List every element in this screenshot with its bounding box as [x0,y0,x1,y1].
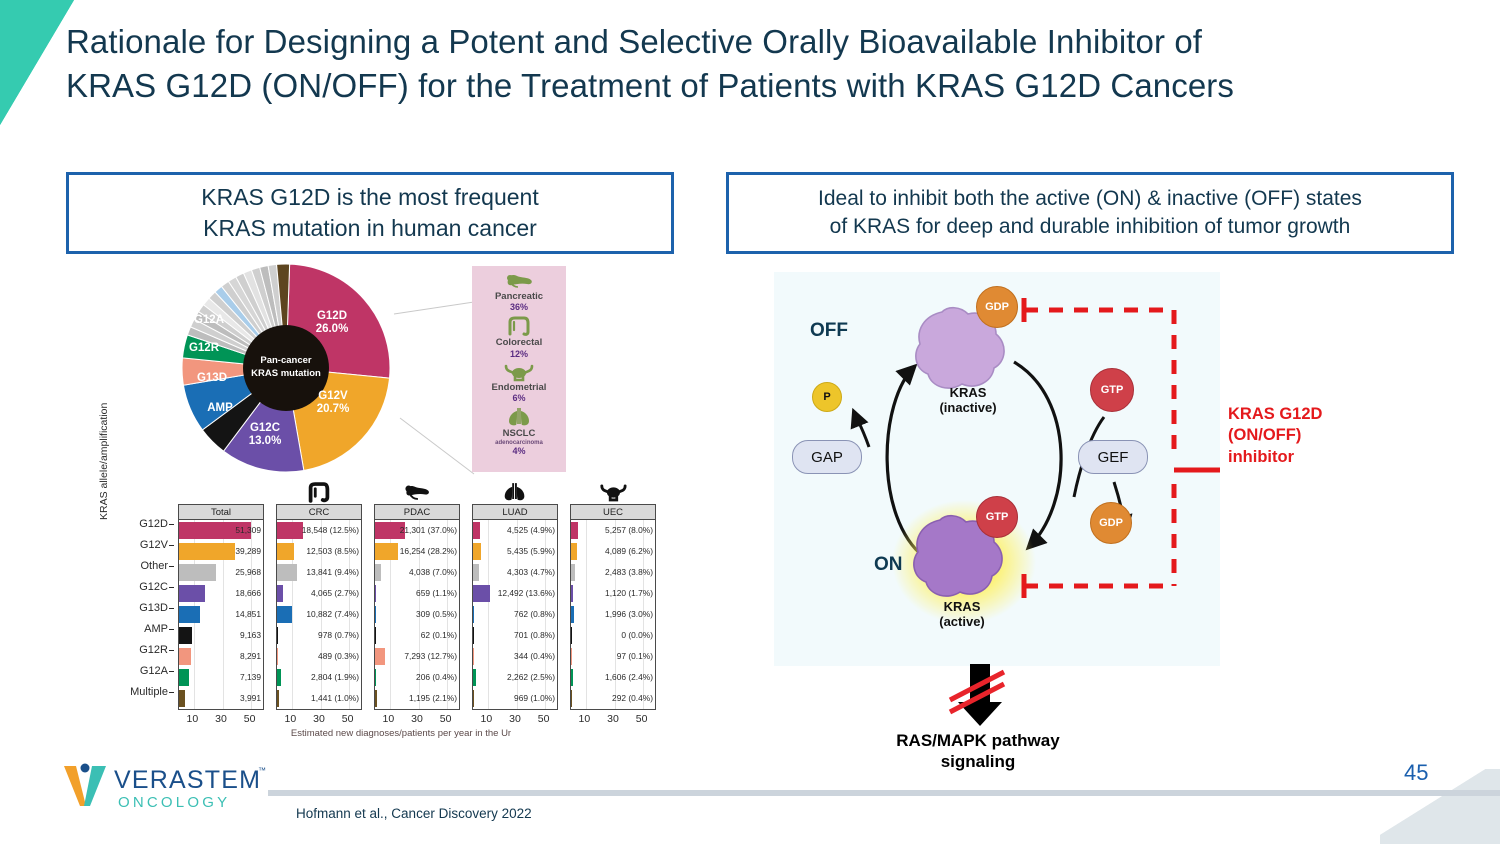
bar-value-label: 1,120 (1.7%) [605,583,653,604]
bar-segment [277,585,283,602]
inset-item-endometrial: Endometrial 6% [472,362,566,403]
bar-column-header: Total [179,505,263,520]
table-row: 0 (0.0%) [571,625,655,646]
bar-value-label: 1,996 (3.0%) [605,604,653,625]
bar-segment [473,690,474,707]
pie-label-amp: AMP [200,402,240,415]
bar-segment [473,522,480,539]
corner-triangle-teal [0,0,74,125]
bar-panel: CRC18,548 (12.5%)12,503 (8.5%)13,841 (9.… [276,504,362,710]
bar-value-label: 39,289 [235,541,261,562]
bar-segment [277,690,279,707]
gdp-node-top: GDP [976,286,1018,328]
table-row: 4,303 (4.7%) [473,562,557,583]
table-row: 8,291 [179,646,263,667]
bar-segment [179,627,192,644]
bar-value-label: 13,841 (9.4%) [306,562,359,583]
logo-trademark: ™ [258,766,266,775]
inset-item-pancreatic: Pancreatic 36% [472,271,566,312]
inhibitor-line-1: KRAS G12D [1228,404,1388,425]
table-row: 4,525 (4.9%) [473,520,557,541]
colon-icon [505,315,533,337]
table-row: 969 (1.0%) [473,688,557,709]
bar-segment [375,648,385,665]
bar-value-label: 969 (1.0%) [514,688,555,709]
bar-column-total: Total51,30939,28925,96818,66614,8519,163… [178,478,264,725]
table-row: 3,991 [179,688,263,709]
table-row: 7,139 [179,667,263,688]
inset-pct-colorectal: 12% [472,349,566,359]
x-tick: 30 [215,713,227,725]
kras-inactive-line-1: KRAS [920,386,1016,401]
bar-column-crc: CRC18,548 (12.5%)12,503 (8.5%)13,841 (9.… [276,478,362,725]
bar-column-header: LUAD [473,505,557,520]
uterus-icon [570,478,656,504]
bar-panel: PDAC21,301 (37.0%)16,254 (28.2%)4,038 (7… [374,504,460,710]
bar-value-label: 4,525 (4.9%) [507,520,555,541]
table-row: 2,804 (1.9%) [277,667,361,688]
bar-segment [179,690,185,707]
bar-segment [571,627,572,644]
bar-segment [473,669,476,686]
bar-segment [179,606,200,623]
bar-segment [179,585,205,602]
page-number: 45 [1404,760,1428,786]
x-tick: 30 [313,713,325,725]
table-row: 4,089 (6.2%) [571,541,655,562]
bar-value-label: 12,503 (8.5%) [306,541,359,562]
table-row: 344 (0.4%) [473,646,557,667]
bar-segment [375,543,398,560]
bar-value-label: 25,968 [235,562,261,583]
bar-value-label: 2,804 (1.9%) [311,667,359,688]
callout-right: Ideal to inhibit both the active (ON) & … [726,172,1454,254]
bar-segment [375,606,376,623]
table-row: 14,851 [179,604,263,625]
callout-right-line-1: Ideal to inhibit both the active (ON) & … [818,185,1362,213]
bar-value-label: 4,065 (2.7%) [311,583,359,604]
x-tick: 30 [607,713,619,725]
inset-name-colorectal: Colorectal [472,338,566,348]
bar-value-label: 701 (0.8%) [514,625,555,646]
pancreas-icon [504,271,534,291]
callout-left: KRAS G12D is the most frequent KRAS muta… [66,172,674,254]
table-row: 2,483 (3.8%) [571,562,655,583]
pie-label-g12c: G12C 13.0% [242,422,288,448]
x-tick: 50 [538,713,550,725]
bar-segment [179,543,235,560]
bar-value-label: 62 (0.1%) [421,625,457,646]
table-row: 21,301 (37.0%) [375,520,459,541]
no-icon [178,478,264,504]
x-tick: 30 [411,713,423,725]
bar-segment [375,627,376,644]
callout-left-line-1: KRAS G12D is the most frequent [201,182,539,213]
bar-row-label-amp: AMP [116,619,174,640]
uterus-icon [503,362,535,382]
bar-chart-table: KRAS allele/amplification G12DG12VOtherG… [104,478,624,746]
table-row: 1,441 (1.0%) [277,688,361,709]
bar-segment [473,627,474,644]
bar-chart-columns: Total51,30939,28925,96818,66614,8519,163… [178,478,656,725]
bar-value-label: 5,257 (8.0%) [605,520,653,541]
inset-name-nsclc: NSCLC [472,429,566,439]
table-row: 18,548 (12.5%) [277,520,361,541]
bar-chart-x-axis-label: Estimated new diagnoses/patients per yea… [178,728,624,739]
bar-chart-row-labels: G12DG12VOtherG12CG13DAMPG12RG12AMultiple [116,514,174,703]
inhibitor-label: KRAS G12D (ON/OFF) inhibitor [1228,404,1388,468]
bar-x-ticks: 103050 [178,710,264,725]
bar-value-label: 2,483 (3.8%) [605,562,653,583]
table-row: 9,163 [179,625,263,646]
inset-name-endometrial: Endometrial [472,383,566,393]
bar-column-header: UEC [571,505,655,520]
bar-value-label: 12,492 (13.6%) [498,583,555,604]
bar-value-label: 762 (0.8%) [514,604,555,625]
bar-chart-y-axis-label: KRAS allele/amplification [98,360,110,520]
table-row: 13,841 (9.4%) [277,562,361,583]
bar-row-label-g12a: G12A [116,661,174,682]
bar-value-label: 206 (0.4%) [416,667,457,688]
bar-value-label: 344 (0.4%) [514,646,555,667]
bar-segment [277,669,281,686]
bar-segment [473,606,474,623]
x-tick: 10 [480,713,492,725]
bar-panel-body: 18,548 (12.5%)12,503 (8.5%)13,841 (9.4%)… [277,520,361,709]
inset-pct-endometrial: 6% [472,393,566,403]
bar-value-label: 978 (0.7%) [318,625,359,646]
x-tick: 50 [342,713,354,725]
pie-center-line-1: Pan-cancer [260,355,311,368]
table-row: 5,257 (8.0%) [571,520,655,541]
bar-value-label: 3,991 [240,688,261,709]
pie-label-g12v-name: G12V [308,390,358,403]
mapk-pathway-label: RAS/MAPK pathway signaling [828,730,1128,773]
kras-active-line-1: KRAS [914,600,1010,615]
bar-panel-body: 5,257 (8.0%)4,089 (6.2%)2,483 (3.8%)1,12… [571,520,655,709]
bar-value-label: 2,262 (2.5%) [507,667,555,688]
table-row: 206 (0.4%) [375,667,459,688]
bar-column-luad: LUAD4,525 (4.9%)5,435 (5.9%)4,303 (4.7%)… [472,478,558,725]
phosphate-node: P [812,382,842,412]
bar-value-label: 0 (0.0%) [621,625,653,646]
logo-wordmark: VERASTEM [114,766,261,795]
bar-panel-body: 21,301 (37.0%)16,254 (28.2%)4,038 (7.0%)… [375,520,459,709]
bar-value-label: 4,303 (4.7%) [507,562,555,583]
bar-segment [179,669,189,686]
corner-triangle-gray [1380,769,1500,844]
table-row: 4,038 (7.0%) [375,562,459,583]
bar-column-header: PDAC [375,505,459,520]
inhibitor-line-3: inhibitor [1228,447,1388,468]
pie-chart: Pan-cancer KRAS mutation G12D 26.0% G12V… [180,262,392,474]
inhibitor-line-2: (ON/OFF) [1228,425,1388,446]
title-line-2: KRAS G12D (ON/OFF) for the Treatment of … [66,64,1466,108]
table-row: 12,503 (8.5%) [277,541,361,562]
bar-value-label: 9,163 [240,625,261,646]
x-tick: 10 [284,713,296,725]
bar-value-label: 18,548 (12.5%) [302,520,359,541]
table-row: 309 (0.5%) [375,604,459,625]
inset-pct-nsclc: 4% [472,446,566,456]
x-tick: 50 [636,713,648,725]
bar-segment [179,564,216,581]
bar-segment [571,648,572,665]
bar-value-label: 5,435 (5.9%) [507,541,555,562]
bar-segment [473,648,474,665]
table-row: 659 (1.1%) [375,583,459,604]
kras-active-label: KRAS (active) [914,600,1010,630]
pie-center-line-2: KRAS mutation [251,368,321,381]
bar-value-label: 7,139 [240,667,261,688]
bar-x-ticks: 103050 [276,710,362,725]
bar-value-label: 51,309 [235,520,261,541]
bar-segment [571,522,578,539]
table-row: 25,968 [179,562,263,583]
x-tick: 50 [244,713,256,725]
bar-panel: UEC5,257 (8.0%)4,089 (6.2%)2,483 (3.8%)1… [570,504,656,710]
table-row: 1,195 (2.1%) [375,688,459,709]
bar-value-label: 97 (0.1%) [617,646,653,667]
page-title: Rationale for Designing a Potent and Sel… [66,20,1466,108]
tumor-type-inset: Pancreatic 36% Colorectal 12% Endometria… [472,266,566,472]
bar-segment [277,522,303,539]
bar-value-label: 1,195 (2.1%) [409,688,457,709]
table-row: 762 (0.8%) [473,604,557,625]
table-row: 1,120 (1.7%) [571,583,655,604]
bar-segment [571,690,572,707]
kras-inactive-label: KRAS (inactive) [920,386,1016,416]
table-row: 39,289 [179,541,263,562]
bar-value-label: 489 (0.3%) [318,646,359,667]
bar-value-label: 4,038 (7.0%) [409,562,457,583]
table-row: 16,254 (28.2%) [375,541,459,562]
table-row: 5,435 (5.9%) [473,541,557,562]
citation: Hofmann et al., Cancer Discovery 2022 [296,806,532,821]
bar-column-uec: UEC5,257 (8.0%)4,089 (6.2%)2,483 (3.8%)1… [570,478,656,725]
bar-panel-body: 4,525 (4.9%)5,435 (5.9%)4,303 (4.7%)12,4… [473,520,557,709]
bar-segment [571,543,577,560]
table-row: 489 (0.3%) [277,646,361,667]
bar-panel: LUAD4,525 (4.9%)5,435 (5.9%)4,303 (4.7%)… [472,504,558,710]
table-row: 292 (0.4%) [571,688,655,709]
mapk-line-1: RAS/MAPK pathway [828,730,1128,751]
bar-value-label: 292 (0.4%) [612,688,653,709]
bar-row-label-g12r: G12R [116,640,174,661]
footer-divider [268,790,1500,796]
state-label-on: ON [874,554,903,576]
bar-row-label-g13d: G13D [116,598,174,619]
bar-value-label: 4,089 (6.2%) [605,541,653,562]
gef-node: GEF [1078,440,1148,474]
lungs-icon [505,406,533,428]
table-row: 62 (0.1%) [375,625,459,646]
table-row: 12,492 (13.6%) [473,583,557,604]
bar-panel-body: 51,30939,28925,96818,66614,8519,1638,291… [179,520,263,709]
bar-segment [473,543,481,560]
bar-value-label: 21,301 (37.0%) [400,520,457,541]
verastem-logo: VERASTEM ™ ONCOLOGY [62,762,262,818]
pie-label-g12a: G12A [188,314,230,327]
pie-label-g12c-pct: 13.0% [242,435,288,448]
gtp-node-right: GTP [1090,368,1134,412]
table-row: 4,065 (2.7%) [277,583,361,604]
bar-row-label-multiple: Multiple [116,682,174,703]
bar-row-label-g12d: G12D [116,514,174,535]
bar-value-label: 1,606 (2.4%) [605,667,653,688]
inset-name-pancreatic: Pancreatic [472,292,566,302]
bar-segment [571,606,574,623]
bar-value-label: 309 (0.5%) [416,604,457,625]
bar-x-ticks: 103050 [472,710,558,725]
bar-segment [375,669,376,686]
table-row: 51,309 [179,520,263,541]
bar-value-label: 10,882 (7.4%) [306,604,359,625]
pancreas-icon [374,478,460,504]
bar-segment [277,627,278,644]
inset-leader-lines [392,300,476,476]
kras-active-line-2: (active) [914,615,1010,630]
pie-label-g12r: G12R [184,342,224,355]
table-row: 1,606 (2.4%) [571,667,655,688]
bar-segment [179,648,191,665]
slide-root: Rationale for Designing a Potent and Sel… [0,0,1500,844]
callout-right-line-2: of KRAS for deep and durable inhibition … [818,213,1362,241]
bar-value-label: 1,441 (1.0%) [311,688,359,709]
bar-segment [375,690,377,707]
inset-item-nsclc: NSCLC adenocarcinoma 4% [472,406,566,455]
bar-segment [473,564,479,581]
pie-label-g12c-name: G12C [242,422,288,435]
kras-cycle-diagram: OFF ON KRAS (inactive) KRAS (active) GDP… [774,272,1220,666]
bar-segment [473,585,490,602]
bar-segment [277,648,278,665]
mapk-line-2: signaling [828,751,1128,772]
bar-row-label-g12v: G12V [116,535,174,556]
bar-value-label: 14,851 [235,604,261,625]
table-row: 10,882 (7.4%) [277,604,361,625]
blocked-pathway-arrow [940,664,1020,728]
table-row: 7,293 (12.7%) [375,646,459,667]
bar-row-label-other: Other [116,556,174,577]
table-row: 978 (0.7%) [277,625,361,646]
x-tick: 10 [186,713,198,725]
kras-inactive-line-2: (inactive) [920,401,1016,416]
gdp-node-right: GDP [1090,502,1132,544]
bar-value-label: 8,291 [240,646,261,667]
inset-item-colorectal: Colorectal 12% [472,315,566,358]
table-row: 97 (0.1%) [571,646,655,667]
bar-column-pdac: PDAC21,301 (37.0%)16,254 (28.2%)4,038 (7… [374,478,460,725]
bar-column-header: CRC [277,505,361,520]
table-row: 701 (0.8%) [473,625,557,646]
bar-segment [375,585,376,602]
x-tick: 30 [509,713,521,725]
bar-segment [571,564,575,581]
gtp-node-active: GTP [976,496,1018,538]
table-row: 18,666 [179,583,263,604]
pie-label-g12d: G12D 26.0% [306,310,358,336]
pie-label-g12v-pct: 20.7% [308,403,358,416]
gap-node: GAP [792,440,862,474]
x-tick: 50 [440,713,452,725]
x-tick: 10 [382,713,394,725]
callout-left-line-2: KRAS mutation in human cancer [201,213,539,244]
title-line-1: Rationale for Designing a Potent and Sel… [66,20,1466,64]
bar-panel: Total51,30939,28925,96818,66614,8519,163… [178,504,264,710]
pie-label-g12d-name: G12D [306,310,358,323]
colon-icon [276,478,362,504]
lungs-icon [472,478,558,504]
bar-value-label: 18,666 [235,583,261,604]
bar-value-label: 7,293 (12.7%) [404,646,457,667]
pie-label-g13d: G13D [192,372,232,385]
bar-row-label-g12c: G12C [116,577,174,598]
table-row: 2,262 (2.5%) [473,667,557,688]
bar-value-label: 659 (1.1%) [416,583,457,604]
bar-x-ticks: 103050 [374,710,460,725]
logo-subtitle: ONCOLOGY [118,794,230,811]
down-arrow-blocked-icon [940,664,1020,728]
table-row: 1,996 (3.0%) [571,604,655,625]
bar-value-label: 16,254 (28.2%) [400,541,457,562]
bar-segment [571,669,573,686]
bar-segment [277,543,294,560]
pie-label-g12v: G12V 20.7% [308,390,358,416]
x-tick: 10 [578,713,590,725]
pie-label-g12d-pct: 26.0% [306,323,358,336]
verastem-v-icon [62,762,108,810]
bar-segment [277,606,292,623]
bar-segment [277,564,297,581]
bar-segment [571,585,573,602]
bar-segment [375,564,381,581]
state-label-off: OFF [810,320,848,342]
inset-pct-pancreatic: 36% [472,302,566,312]
bar-x-ticks: 103050 [570,710,656,725]
